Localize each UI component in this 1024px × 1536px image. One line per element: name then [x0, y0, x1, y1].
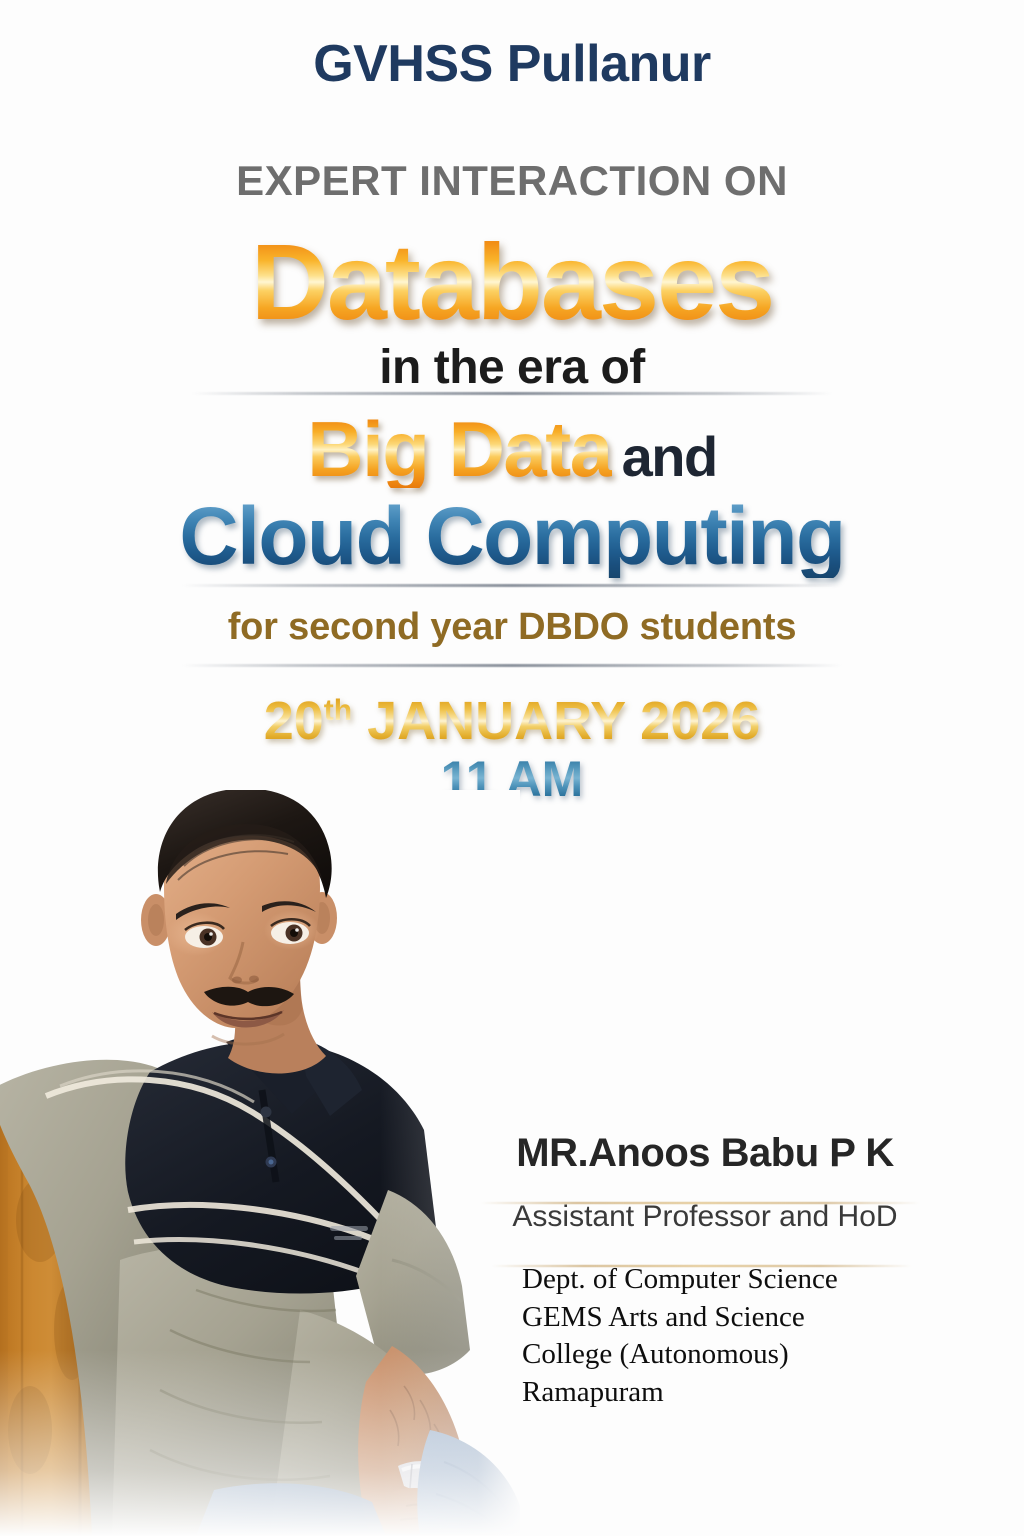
divider-rule-audience-top	[182, 584, 842, 587]
speaker-role: Assistant Professor and HoD	[470, 1200, 940, 1233]
speaker-portrait-illustration	[0, 790, 520, 1536]
title-subline-era-text: in the era of	[379, 341, 645, 394]
event-poster: GVHSS Pullanur EXPERT INTERACTION ON Dat…	[0, 0, 1024, 1536]
event-kicker: EXPERT INTERACTION ON	[0, 160, 1024, 202]
event-date-day: 20	[264, 691, 324, 751]
divider-rule-audience-bottom	[182, 664, 842, 667]
event-date-ordinal: th	[324, 694, 352, 727]
title-databases: Databases	[0, 228, 1024, 336]
title-databases-text: Databases	[251, 228, 773, 336]
event-date-rest: JANUARY 2026	[352, 691, 760, 751]
title-conjunction-and: and	[622, 425, 717, 488]
affiliation-line: Ramapuram	[522, 1374, 940, 1412]
organization-name: GVHSS Pullanur	[0, 38, 1024, 90]
speaker-info-block: MR.Anoos Babu P K Assistant Professor an…	[470, 1132, 940, 1412]
divider-rule-speaker-bottom	[492, 1265, 912, 1267]
affiliation-line: College (Autonomous)	[522, 1336, 940, 1374]
event-date-text: 20th JANUARY 2026	[264, 694, 761, 748]
title-big-data-text: Big Data	[307, 410, 611, 488]
divider-rule-speaker-top	[480, 1202, 920, 1204]
affiliation-line: GEMS Arts and Science	[522, 1299, 940, 1337]
title-cloud-computing: Cloud Computing	[0, 496, 1024, 578]
speaker-affiliation: Dept. of Computer Science GEMS Arts and …	[522, 1261, 940, 1412]
title-subline-era: in the era of	[0, 344, 1024, 392]
event-date: 20th JANUARY 2026	[0, 694, 1024, 748]
speaker-name: MR.Anoos Babu P K	[470, 1132, 940, 1174]
title-cloud-computing-text: Cloud Computing	[179, 496, 844, 578]
title-big-data: Big Dataand	[0, 410, 1024, 488]
audience-note: for second year DBDO students	[0, 608, 1024, 646]
speaker-photo	[0, 790, 520, 1536]
audience-note-text: for second year DBDO students	[228, 606, 797, 648]
